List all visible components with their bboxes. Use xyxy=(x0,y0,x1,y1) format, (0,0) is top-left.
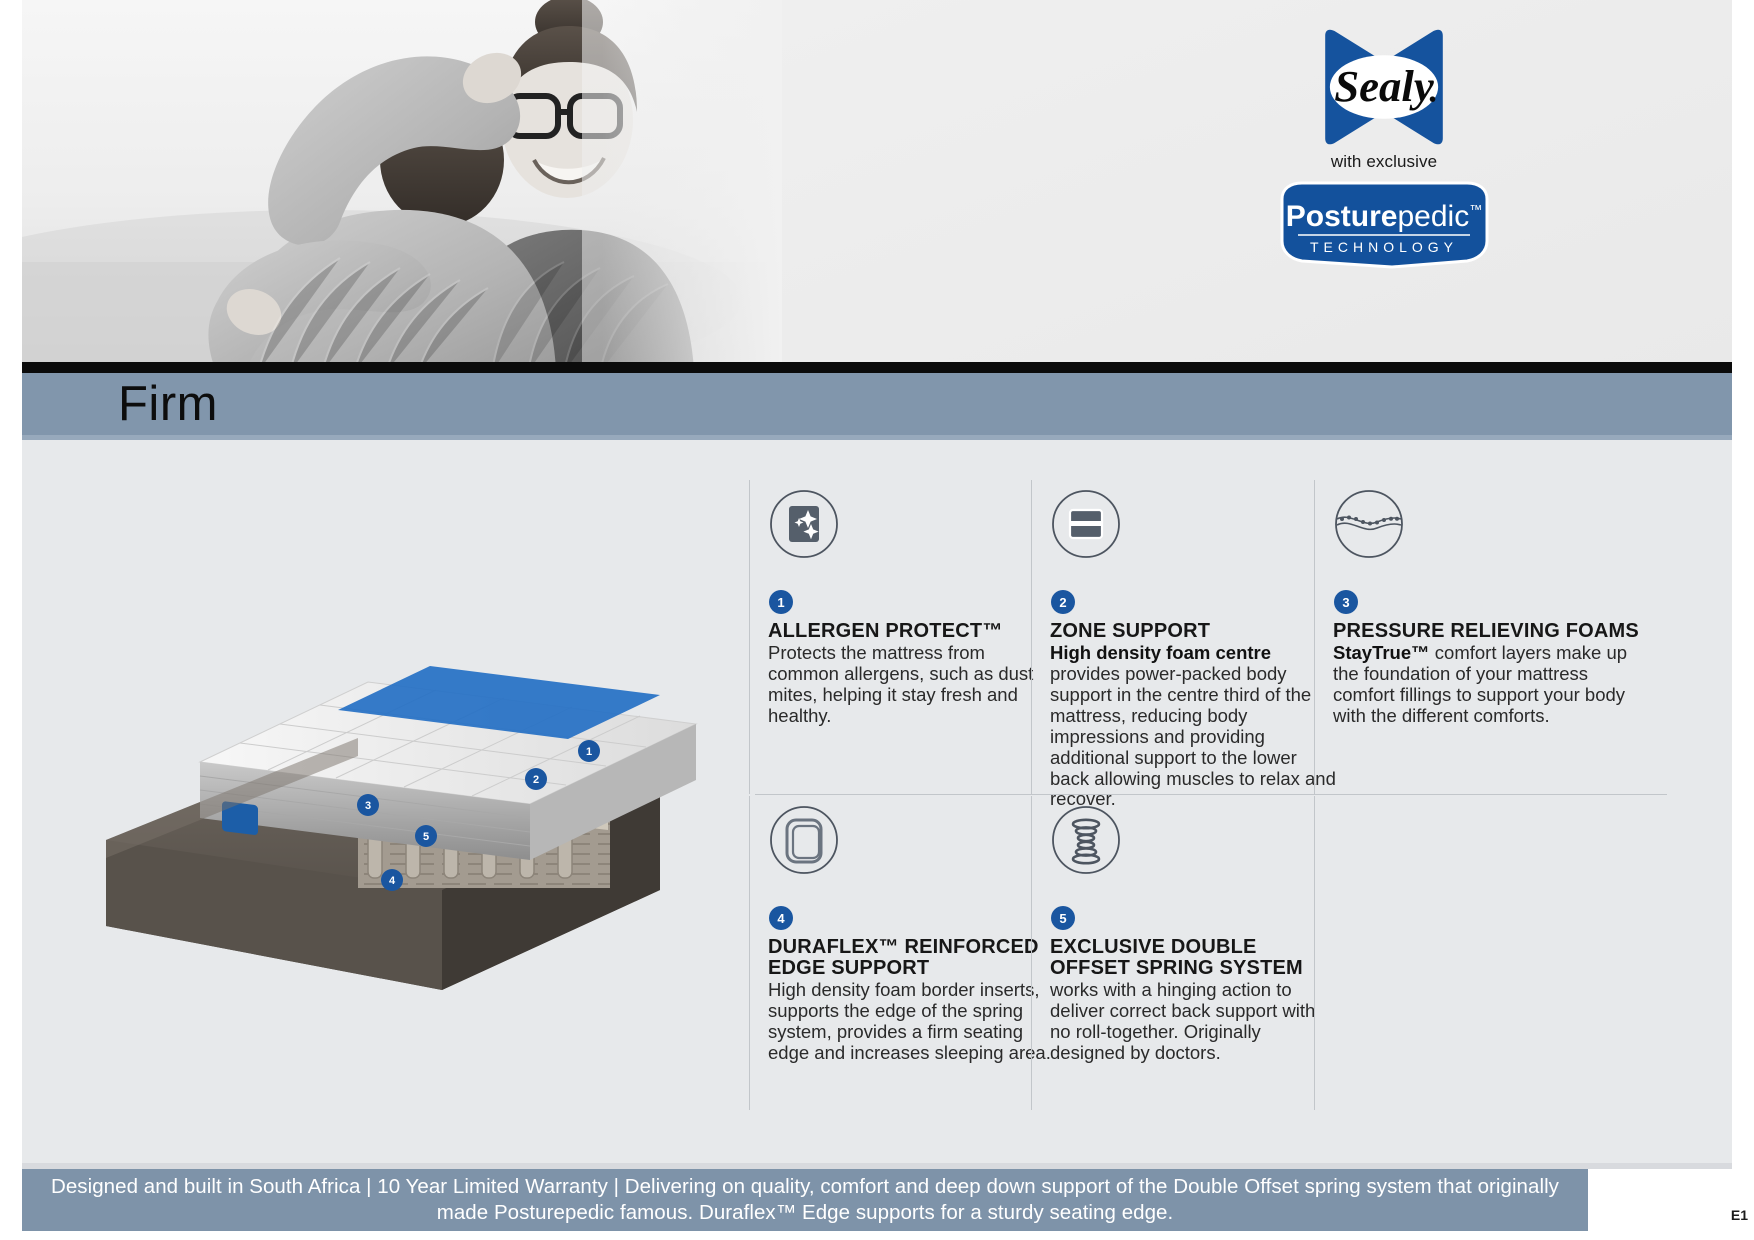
svg-text:1: 1 xyxy=(586,746,592,758)
svg-text:3: 3 xyxy=(365,800,371,812)
svg-text:2: 2 xyxy=(533,774,539,786)
svg-text:Sealy: Sealy xyxy=(1334,61,1435,111)
feature-number-badge: 1 xyxy=(769,590,793,614)
content-panel: 1 2 3 4 5 xyxy=(22,440,1732,1163)
product-spec-sheet: Sealy with exclusive Posturepedic™ TECHN… xyxy=(0,0,1754,1240)
feature-description-text: High density foam border inserts, suppor… xyxy=(768,979,1051,1063)
brand-logo-block: Sealy with exclusive Posturepedic™ TECHN… xyxy=(1254,28,1514,269)
feature-card-duraflex-edge-support: 4 DURAFLEX™ REINFORCED EDGE SUPPORT High… xyxy=(749,796,1059,1110)
double-offset-spring-icon xyxy=(1050,804,1122,876)
feature-number-badge: 5 xyxy=(1051,906,1075,930)
footer-text: Designed and built in South Africa | 10 … xyxy=(45,1174,1565,1226)
svg-text:4: 4 xyxy=(389,875,396,887)
feature-card-allergen-protect: 1 ALLERGEN PROTECT™ Protects the mattres… xyxy=(749,480,1059,794)
feature-title: DURAFLEX™ REINFORCED EDGE SUPPORT xyxy=(768,937,1059,979)
features-row-bottom: 4 DURAFLEX™ REINFORCED EDGE SUPPORT High… xyxy=(749,796,1689,1110)
zone-support-layers-icon xyxy=(1050,488,1122,560)
sealy-logo: Sealy xyxy=(1314,28,1454,146)
feature-description: High density foam border inserts, suppor… xyxy=(768,980,1059,1064)
footer-bar: Designed and built in South Africa | 10 … xyxy=(22,1169,1588,1231)
allergen-sparkle-icon xyxy=(768,488,840,560)
feature-card-double-offset-spring: 5 EXCLUSIVE DOUBLE OFFSET SPRING SYSTEM … xyxy=(1031,796,1339,1110)
feature-number-badge: 4 xyxy=(769,906,793,930)
pressure-relieving-foams-icon xyxy=(1333,488,1405,560)
feature-description-lead: StayTrue™ xyxy=(1333,642,1430,663)
feature-description-text: provides power-packed body support in th… xyxy=(1050,663,1336,809)
feature-title: ALLERGEN PROTECT™ xyxy=(768,621,1059,642)
grid-row-divider xyxy=(755,794,1667,795)
feature-description: Protects the mattress from common allerg… xyxy=(768,643,1059,727)
features-grid: 1 ALLERGEN PROTECT™ Protects the mattres… xyxy=(749,480,1689,1110)
svg-text:Posturepedic™: Posturepedic™ xyxy=(1285,200,1481,233)
edge-support-frame-icon xyxy=(768,804,840,876)
feature-title: EXCLUSIVE DOUBLE OFFSET SPRING SYSTEM xyxy=(1050,937,1339,979)
feature-card-empty xyxy=(1314,796,1644,1110)
page-title: Firm xyxy=(118,376,218,432)
feature-description: works with a hinging action to deliver c… xyxy=(1050,980,1339,1064)
feature-title: PRESSURE RELIEVING FOAMS xyxy=(1333,621,1644,642)
feature-description-lead: High density foam centre xyxy=(1050,642,1271,663)
comfort-level-bar: Firm xyxy=(22,373,1732,435)
feature-description: High density foam centre provides power-… xyxy=(1050,643,1339,810)
svg-text:5: 5 xyxy=(423,831,429,843)
with-exclusive-label: with exclusive xyxy=(1254,152,1514,172)
mattress-cutaway-illustration: 1 2 3 4 5 xyxy=(100,590,740,1010)
feature-description-text: Protects the mattress from common allerg… xyxy=(768,642,1033,726)
svg-text:TECHNOLOGY: TECHNOLOGY xyxy=(1309,239,1457,255)
feature-number-badge: 2 xyxy=(1051,590,1075,614)
posturepedic-technology-badge: Posturepedic™ TECHNOLOGY xyxy=(1272,179,1497,269)
hero-photo-hugging-women xyxy=(22,0,782,370)
feature-description-text: works with a hinging action to deliver c… xyxy=(1050,979,1315,1063)
features-row-top: 1 ALLERGEN PROTECT™ Protects the mattres… xyxy=(749,480,1689,794)
feature-title: ZONE SUPPORT xyxy=(1050,621,1339,642)
feature-number-badge: 3 xyxy=(1334,590,1358,614)
feature-card-pressure-relieving-foams: 3 PRESSURE RELIEVING FOAMS StayTrue™ com… xyxy=(1314,480,1644,794)
corner-code: E1 xyxy=(1731,1207,1748,1223)
feature-card-zone-support: 2 ZONE SUPPORT High density foam centre … xyxy=(1031,480,1339,794)
feature-description: StayTrue™ comfort layers make up the fou… xyxy=(1333,643,1633,727)
hero-banner: Sealy with exclusive Posturepedic™ TECHN… xyxy=(22,0,1732,370)
title-black-stripe xyxy=(22,362,1732,373)
